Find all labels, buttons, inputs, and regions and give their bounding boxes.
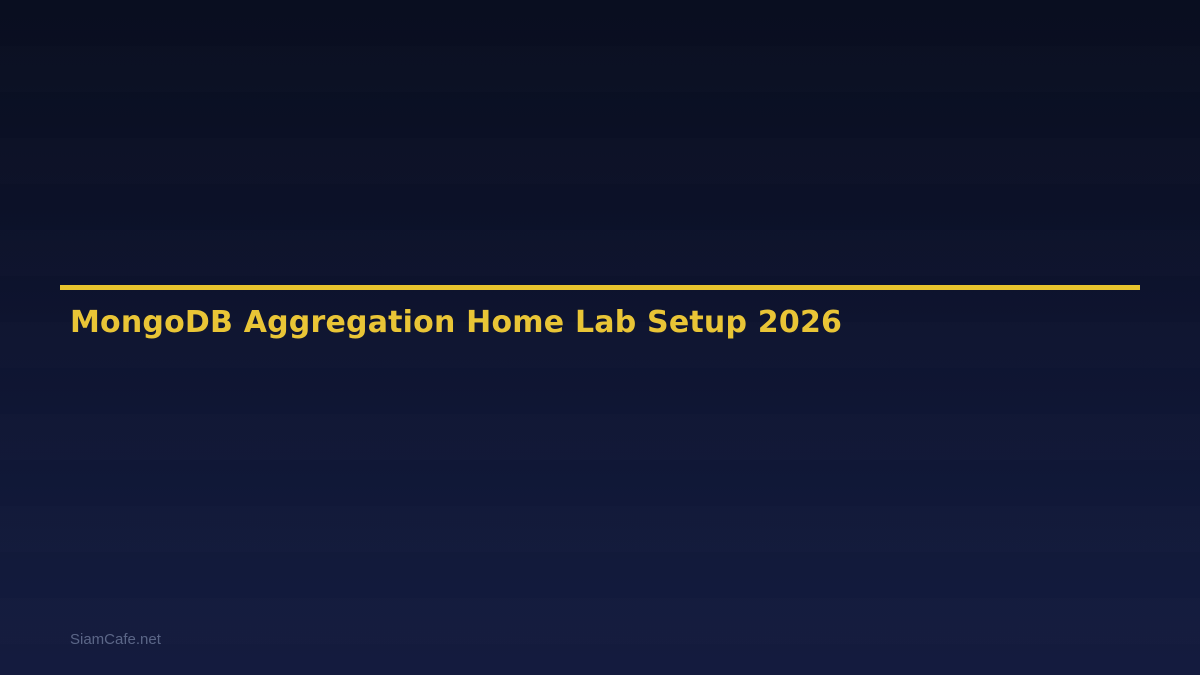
page-title: MongoDB Aggregation Home Lab Setup 2026 [70, 305, 842, 341]
title-accent-bar [60, 285, 1140, 290]
title-slide: MongoDB Aggregation Home Lab Setup 2026 … [0, 0, 1200, 675]
slide-content: MongoDB Aggregation Home Lab Setup 2026 … [0, 0, 1200, 675]
footer-brand-label: SiamCafe.net [70, 630, 161, 649]
